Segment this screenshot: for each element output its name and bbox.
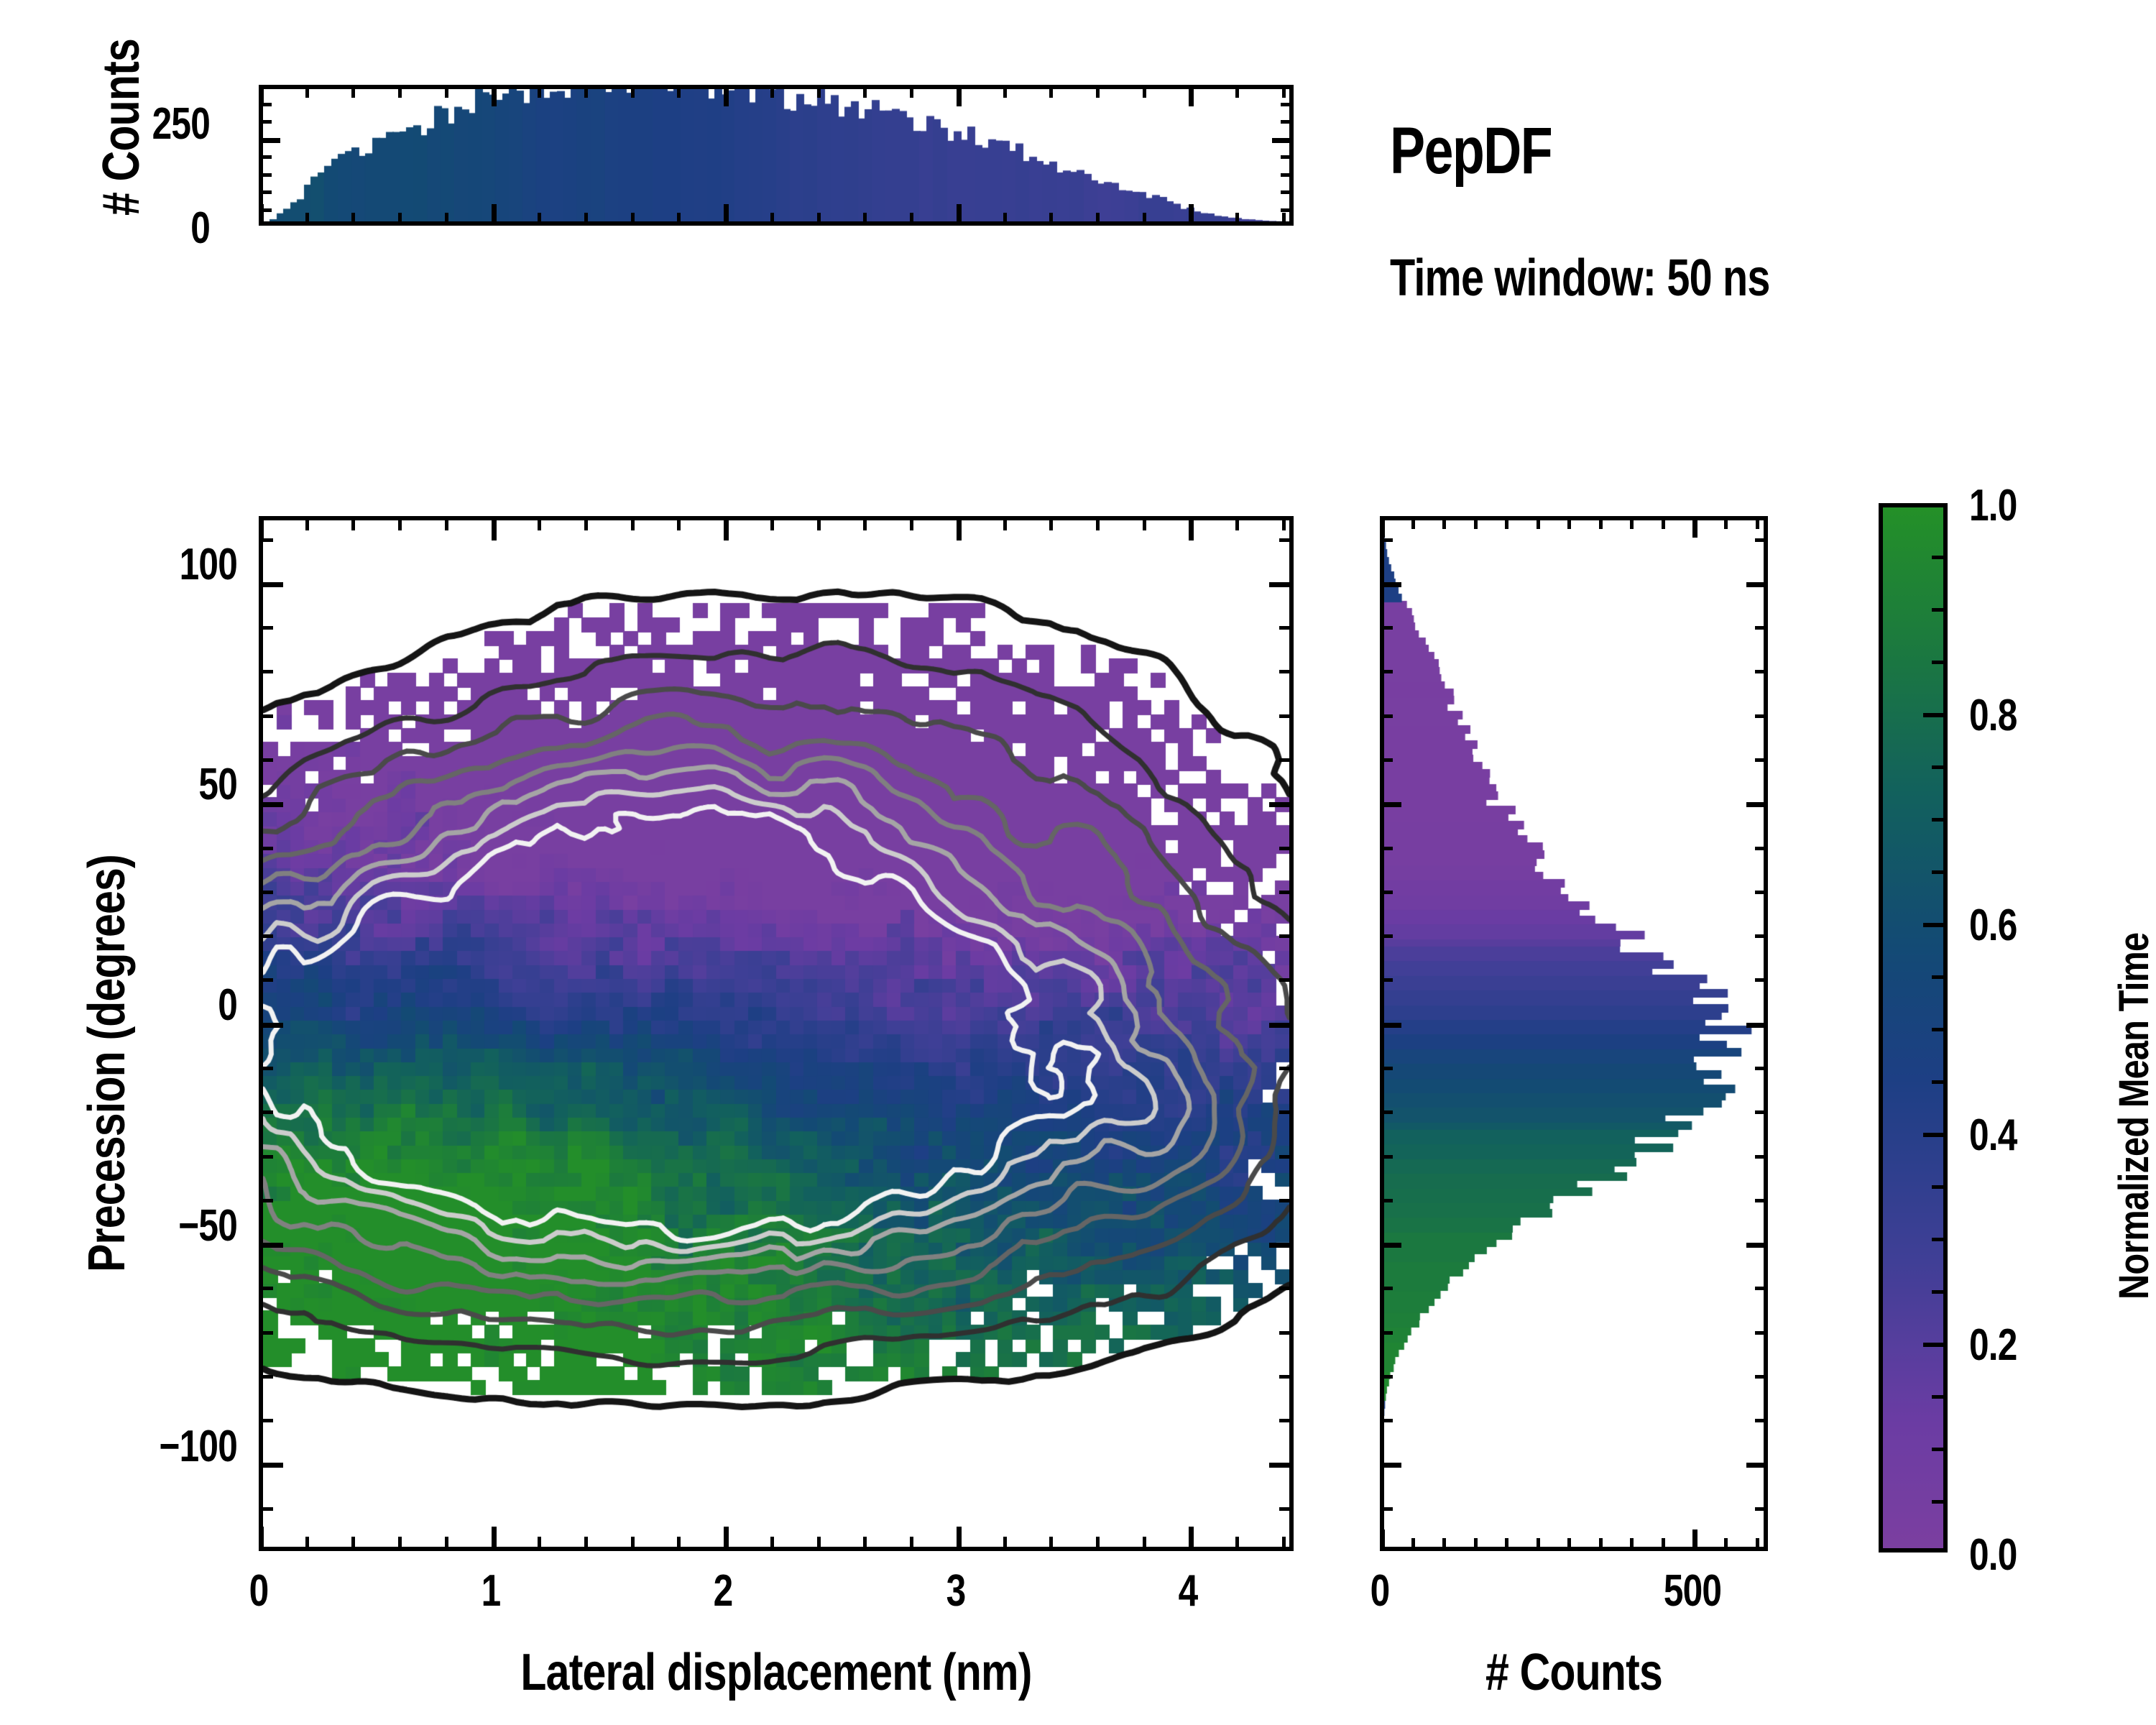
main-ytick-right--70	[1279, 1331, 1294, 1335]
top-xtick-bot-3.6	[1096, 213, 1100, 226]
right-ytick-0	[1380, 1023, 1401, 1028]
top-xtick-0.8	[445, 85, 448, 98]
right-xtick-0	[1380, 1529, 1385, 1551]
colorbar-tick-0.15	[1932, 1395, 1948, 1399]
main-ytick-40	[259, 847, 273, 850]
main-xtick-3.0	[957, 1527, 962, 1551]
main-xtick-top-0.0	[259, 516, 264, 540]
right-ytick--50	[1380, 1243, 1401, 1248]
main-xtick-1.6	[631, 1537, 635, 1551]
main-ytick-right--60	[1279, 1287, 1294, 1290]
right-ytick-right-40	[1755, 847, 1768, 850]
right-ytick-right-30	[1755, 891, 1768, 894]
right-xtick-top-550	[1724, 516, 1728, 529]
colorbar-tick-0.10	[1932, 1448, 1948, 1451]
top-xtick-4.2	[1235, 85, 1239, 98]
right-ytick-right--20	[1755, 1110, 1768, 1114]
main-xtick-3.6	[1096, 1537, 1100, 1551]
right-ytick-right-0	[1746, 1023, 1768, 1028]
right-xtick-label-500: 500	[1664, 1565, 1721, 1616]
main-ytick-right-50	[1269, 802, 1294, 807]
right-xtick-top-250	[1537, 516, 1540, 529]
main-ytick-20	[259, 934, 273, 938]
main-ytick-label-0: 0	[218, 980, 237, 1031]
right-ytick--60	[1380, 1287, 1393, 1290]
main-ytick-30	[259, 891, 273, 894]
right-ytick-10	[1380, 978, 1393, 982]
right-ytick--10	[1380, 1067, 1393, 1070]
main-2d-histogram-panel	[259, 516, 1294, 1551]
right-ytick--20	[1380, 1110, 1393, 1114]
main-ytick-right--10	[1279, 1067, 1294, 1070]
top-xtick-2.6	[863, 85, 867, 98]
main-ytick-label-minus100: −100	[159, 1421, 237, 1472]
right-xtick-top-450	[1662, 516, 1665, 529]
colorbar-tick-0.35	[1932, 1185, 1948, 1189]
top-xtick-3.4	[1049, 85, 1053, 98]
main-xtick-top-0.6	[398, 516, 402, 530]
colorbar-tick-0.95	[1932, 556, 1948, 559]
top-ytick-label-0: 0	[190, 203, 210, 254]
colorbar-tick-0.90	[1932, 608, 1948, 612]
right-ytick-90	[1380, 626, 1393, 630]
top-xtick-2.0	[724, 85, 729, 106]
main-ytick-right--110	[1279, 1507, 1294, 1511]
main-ytick-right-0	[1269, 1023, 1294, 1028]
right-ytick-right--50	[1746, 1243, 1768, 1248]
top-xtick-bot-2.8	[910, 213, 913, 226]
top-ytick-100	[259, 190, 272, 194]
main-ytick--60	[259, 1287, 273, 1290]
right-ytick-110	[1380, 538, 1393, 542]
top-ytick-right-100	[1281, 190, 1294, 194]
right-ytick--40	[1380, 1199, 1393, 1202]
main-xtick-label-4: 4	[1179, 1565, 1198, 1616]
main-ytick-right-80	[1279, 670, 1294, 673]
top-ytick-right-200	[1281, 155, 1294, 159]
main-ytick-right-60	[1279, 758, 1294, 762]
right-xtick-label-0: 0	[1370, 1565, 1390, 1616]
main-xtick-label-3: 3	[946, 1565, 966, 1616]
right-xtick-top-50	[1411, 516, 1415, 529]
top-xtick-bot-3.0	[957, 204, 962, 226]
right-ytick-right-90	[1755, 626, 1768, 630]
main-xtick-top-3.0	[957, 516, 962, 540]
main-xtick-4.4	[1282, 1537, 1286, 1551]
main-xtick-2.2	[770, 1537, 774, 1551]
main-ytick-right-20	[1279, 934, 1294, 938]
right-ytick--100	[1380, 1463, 1401, 1468]
colorbar-tick-0.80	[1923, 713, 1948, 717]
right-ytick--80	[1380, 1375, 1393, 1379]
top-xtick-3.0	[957, 85, 962, 106]
right-ytick--110	[1380, 1507, 1393, 1511]
main-xtick-0.4	[351, 1537, 355, 1551]
right-ytick--90	[1380, 1419, 1393, 1422]
right-ytick-right-10	[1755, 978, 1768, 982]
main-ytick-right-40	[1279, 847, 1294, 850]
colorbar-tick-label-2: 0.4	[1969, 1110, 2017, 1161]
right-xtick-350	[1599, 1538, 1603, 1551]
colorbar-tick-0.45	[1932, 1080, 1948, 1084]
main-xtick-top-1.0	[492, 516, 497, 540]
main-xtick-0.6	[398, 1537, 402, 1551]
main-panel-ylabel: Precession (degrees)	[78, 855, 137, 1272]
right-xtick-300	[1567, 1538, 1571, 1551]
top-ytick-right-350	[1281, 103, 1294, 106]
main-xtick-label-2: 2	[714, 1565, 733, 1616]
main-ytick-70	[259, 714, 273, 718]
top-xtick-4.4	[1282, 85, 1286, 98]
right-ytick-50	[1380, 802, 1401, 807]
main-xtick-0.8	[445, 1537, 448, 1551]
colorbar-tick-0.30	[1932, 1238, 1948, 1241]
top-xtick-2.8	[910, 85, 913, 98]
right-ytick-right--10	[1755, 1067, 1768, 1070]
x-marginal-histogram-panel	[259, 85, 1294, 226]
main-ytick--50	[259, 1243, 283, 1248]
main-ytick-label-100: 100	[180, 539, 237, 590]
main-xtick-3.2	[1003, 1537, 1007, 1551]
top-xtick-bot-3.2	[1003, 213, 1007, 226]
main-xtick-2.0	[724, 1527, 729, 1551]
main-ytick-label-50: 50	[198, 759, 237, 810]
top-ytick-150	[259, 173, 272, 177]
right-xtick-top-350	[1599, 516, 1603, 529]
x-marginal-histogram-canvas	[263, 89, 1289, 221]
right-ytick-right--70	[1755, 1331, 1768, 1335]
right-ytick-right--60	[1755, 1287, 1768, 1290]
colorbar-tick-0.05	[1932, 1500, 1948, 1504]
right-xtick-top-500	[1692, 516, 1697, 538]
top-xtick-3.8	[1143, 85, 1146, 98]
main-ytick-100	[259, 582, 283, 587]
y-marginal-histogram-canvas	[1384, 520, 1764, 1547]
right-xtick-100	[1442, 1538, 1446, 1551]
main-xtick-top-2.2	[770, 516, 774, 530]
colorbar-tick-0.50	[1932, 1028, 1948, 1031]
main-ytick--30	[259, 1155, 273, 1159]
main-ytick-right--100	[1269, 1463, 1294, 1468]
main-ytick-0	[259, 1023, 283, 1028]
top-xtick-0.6	[398, 85, 402, 98]
top-xtick-bot-1.2	[538, 213, 541, 226]
right-xtick-top-150	[1474, 516, 1478, 529]
top-xtick-0.2	[305, 85, 309, 98]
right-xtick-top-600	[1756, 516, 1759, 529]
colorbar-tick-0.65	[1932, 870, 1948, 874]
top-xtick-bot-1.0	[492, 204, 497, 226]
colorbar-tick-0.60	[1923, 923, 1948, 927]
colorbar-tick-label-5: 1.0	[1969, 480, 2017, 531]
right-xtick-600	[1756, 1538, 1759, 1551]
main-xtick-4.2	[1235, 1537, 1239, 1551]
colorbar-tick-0.20	[1923, 1343, 1948, 1347]
main-panel-xlabel: Lateral displacement (nm)	[520, 1643, 1031, 1702]
colorbar-tick-label-0: 0.0	[1969, 1529, 2017, 1581]
main-xtick-3.4	[1049, 1537, 1053, 1551]
main-xtick-top-2.6	[863, 516, 867, 530]
main-ytick-label-minus50: −50	[178, 1200, 237, 1251]
main-xtick-top-1.6	[631, 516, 635, 530]
top-xtick-bot-0.6	[398, 213, 402, 226]
colorbar-tick-0.75	[1932, 765, 1948, 769]
top-xtick-0.4	[351, 85, 355, 98]
top-ytick-label-250: 250	[152, 98, 210, 149]
main-ytick--100	[259, 1463, 283, 1468]
figure-subtitle: Time window: 50 ns	[1390, 249, 1770, 308]
main-xtick-top-2.4	[817, 516, 821, 530]
right-ytick-right--100	[1746, 1463, 1768, 1468]
right-xtick-550	[1724, 1538, 1728, 1551]
right-ytick-100	[1380, 582, 1401, 587]
right-xtick-top-400	[1630, 516, 1634, 529]
main-xtick-0.0	[259, 1527, 264, 1551]
right-ytick-right--30	[1755, 1155, 1768, 1159]
right-xtick-top-100	[1442, 516, 1446, 529]
main-ytick--90	[259, 1419, 273, 1422]
main-ytick-right-10	[1279, 978, 1294, 982]
main-xtick-0.2	[305, 1537, 309, 1551]
main-xtick-1.0	[492, 1527, 497, 1551]
top-ytick-right-250	[1272, 138, 1294, 143]
top-xtick-bot-2.4	[817, 213, 821, 226]
top-xtick-bot-0.2	[305, 213, 309, 226]
top-xtick-bot-3.4	[1049, 213, 1053, 226]
right-ytick-60	[1380, 758, 1393, 762]
top-xtick-1.8	[677, 85, 681, 98]
main-xtick-top-1.2	[538, 516, 541, 530]
top-panel-ylabel: # Counts	[92, 39, 151, 216]
top-xtick-bot-1.8	[677, 213, 681, 226]
top-xtick-bot-4.2	[1235, 213, 1239, 226]
main-ytick--80	[259, 1375, 273, 1379]
main-ytick-60	[259, 758, 273, 762]
right-xtick-top-300	[1567, 516, 1571, 529]
main-xtick-4.0	[1189, 1527, 1194, 1551]
main-xtick-top-2.0	[724, 516, 729, 540]
right-xtick-500	[1692, 1529, 1697, 1551]
right-ytick-80	[1380, 670, 1393, 673]
top-xtick-bot-2.6	[863, 213, 867, 226]
main-ytick--70	[259, 1331, 273, 1335]
main-xtick-top-3.4	[1049, 516, 1053, 530]
main-ytick-10	[259, 978, 273, 982]
main-ytick-50	[259, 802, 283, 807]
top-ytick-250	[259, 138, 280, 143]
colorbar-tick-0.40	[1923, 1133, 1948, 1137]
right-xtick-200	[1505, 1538, 1508, 1551]
right-ytick-40	[1380, 847, 1393, 850]
top-xtick-bot-1.4	[584, 213, 588, 226]
main-xtick-2.4	[817, 1537, 821, 1551]
figure-root: 0 250 # Counts 100 50 0 −50 −100 Precess…	[0, 0, 2156, 1725]
top-xtick-4.0	[1189, 85, 1194, 106]
right-ytick-right-20	[1755, 934, 1768, 938]
main-xtick-top-3.2	[1003, 516, 1007, 530]
right-ytick-20	[1380, 934, 1393, 938]
right-ytick-right-110	[1755, 538, 1768, 542]
main-ytick--10	[259, 1067, 273, 1070]
right-ytick-right--40	[1755, 1199, 1768, 1202]
main-xtick-top-1.8	[677, 516, 681, 530]
right-xtick-250	[1537, 1538, 1540, 1551]
top-xtick-3.2	[1003, 85, 1007, 98]
top-xtick-bot-2.0	[724, 204, 729, 226]
top-xtick-1.4	[584, 85, 588, 98]
main-ytick--20	[259, 1110, 273, 1114]
main-xtick-3.8	[1143, 1537, 1146, 1551]
right-xtick-50	[1411, 1538, 1415, 1551]
main-xtick-top-4.0	[1189, 516, 1194, 540]
main-xtick-top-4.2	[1235, 516, 1239, 530]
main-ytick-right--30	[1279, 1155, 1294, 1159]
colorbar-label: Normalized Mean Time	[2110, 933, 2156, 1299]
top-ytick-200	[259, 155, 272, 159]
colorbar-tick-0.55	[1932, 975, 1948, 979]
main-xtick-1.2	[538, 1537, 541, 1551]
top-ytick-right-150	[1281, 173, 1294, 177]
right-ytick-right--110	[1755, 1507, 1768, 1511]
main-ytick--40	[259, 1199, 273, 1202]
main-ytick-right--80	[1279, 1375, 1294, 1379]
top-xtick-bot-2.2	[770, 213, 774, 226]
colorbar-tick-0.70	[1932, 818, 1948, 822]
right-ytick-70	[1380, 714, 1393, 718]
main-xtick-2.6	[863, 1537, 867, 1551]
right-ytick--30	[1380, 1155, 1393, 1159]
main-xtick-1.4	[584, 1537, 588, 1551]
top-xtick-3.6	[1096, 85, 1100, 98]
right-ytick-right-70	[1755, 714, 1768, 718]
main-ytick-right--50	[1269, 1243, 1294, 1248]
main-xtick-2.8	[910, 1537, 913, 1551]
main-ytick-80	[259, 670, 273, 673]
top-xtick-bot-4.4	[1282, 213, 1286, 226]
main-ytick-right-90	[1279, 626, 1294, 630]
right-ytick-right--90	[1755, 1419, 1768, 1422]
figure-title: PepDF	[1390, 114, 1552, 189]
right-ytick-right-80	[1755, 670, 1768, 673]
main-xtick-top-0.8	[445, 516, 448, 530]
main-ytick-right-70	[1279, 714, 1294, 718]
main-xtick-top-2.8	[910, 516, 913, 530]
top-ytick-right-50	[1281, 208, 1294, 212]
main-xtick-top-0.2	[305, 516, 309, 530]
right-xtick-top-200	[1505, 516, 1508, 529]
top-ytick-350	[259, 103, 272, 106]
colorbar-tick-label-3: 0.6	[1969, 900, 2017, 951]
colorbar-tick-label-4: 0.8	[1969, 690, 2017, 741]
main-ytick-right-100	[1269, 582, 1294, 587]
right-xtick-top-0	[1380, 516, 1385, 538]
main-xtick-1.8	[677, 1537, 681, 1551]
main-xtick-top-0.4	[351, 516, 355, 530]
top-ytick-right-300	[1281, 120, 1294, 124]
colorbar-tick-label-1: 0.2	[1969, 1320, 2017, 1371]
main-xtick-top-3.8	[1143, 516, 1146, 530]
right-ytick-right-50	[1746, 802, 1768, 807]
main-ytick-90	[259, 626, 273, 630]
top-xtick-1.0	[492, 85, 497, 106]
top-xtick-2.2	[770, 85, 774, 98]
main-xtick-top-3.6	[1096, 516, 1100, 530]
main-2d-histogram-canvas	[263, 520, 1289, 1547]
main-ytick-right--90	[1279, 1419, 1294, 1422]
right-panel-xlabel: # Counts	[1485, 1643, 1662, 1702]
top-ytick-50	[259, 208, 272, 212]
main-ytick-right-30	[1279, 891, 1294, 894]
top-xtick-bot-1.6	[631, 213, 635, 226]
right-ytick-right-60	[1755, 758, 1768, 762]
main-xtick-top-4.4	[1282, 516, 1286, 530]
right-xtick-450	[1662, 1538, 1665, 1551]
top-xtick-1.2	[538, 85, 541, 98]
top-xtick-bot-0.0	[259, 204, 264, 226]
top-ytick-300	[259, 120, 272, 124]
right-ytick-right--80	[1755, 1375, 1768, 1379]
right-ytick-right-100	[1746, 582, 1768, 587]
main-xtick-top-1.4	[584, 516, 588, 530]
main-xtick-label-1: 1	[482, 1565, 501, 1616]
top-xtick-bot-4.0	[1189, 204, 1194, 226]
main-ytick--110	[259, 1507, 273, 1511]
right-xtick-400	[1630, 1538, 1634, 1551]
right-xtick-150	[1474, 1538, 1478, 1551]
top-xtick-bot-3.8	[1143, 213, 1146, 226]
main-ytick-right-110	[1279, 538, 1294, 542]
top-xtick-bot-0.8	[445, 213, 448, 226]
right-ytick-30	[1380, 891, 1393, 894]
y-marginal-histogram-panel	[1380, 516, 1768, 1551]
main-ytick-right--40	[1279, 1199, 1294, 1202]
colorbar-tick-0.25	[1932, 1290, 1948, 1294]
main-xtick-label-0: 0	[249, 1565, 269, 1616]
right-ytick--70	[1380, 1331, 1393, 1335]
colorbar-tick-0.85	[1932, 661, 1948, 664]
top-xtick-1.6	[631, 85, 635, 98]
main-ytick-right--20	[1279, 1110, 1294, 1114]
main-ytick-110	[259, 538, 273, 542]
top-xtick-2.4	[817, 85, 821, 98]
top-xtick-bot-0.4	[351, 213, 355, 226]
